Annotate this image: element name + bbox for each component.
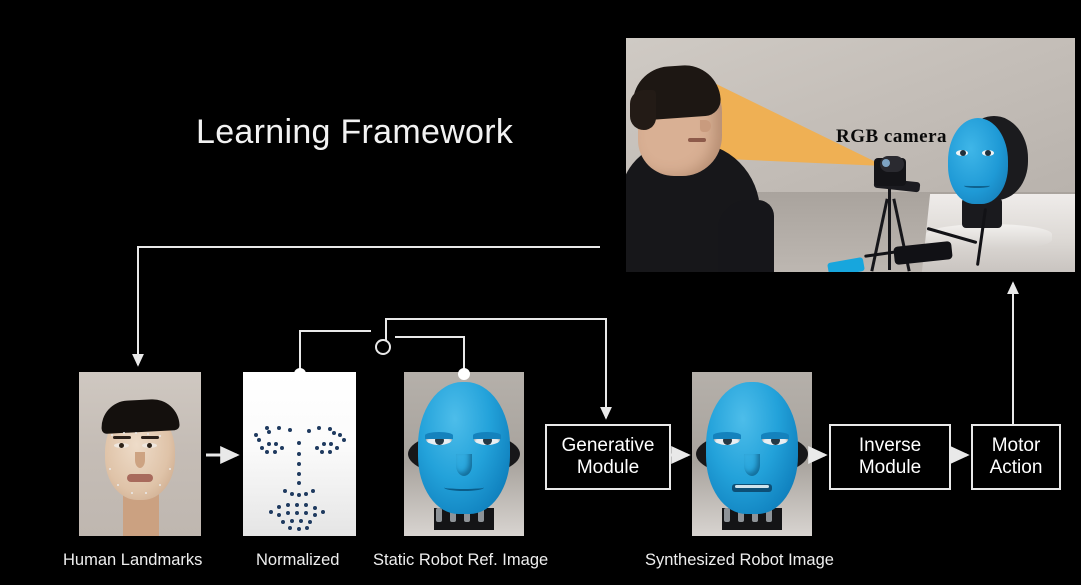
landmark-dot (297, 481, 301, 485)
robot-syn-eyelid-left (713, 432, 741, 439)
human-hair (100, 398, 180, 434)
landmark-overlay-dot (111, 434, 113, 436)
rgb-camera-label: RGB camera (836, 126, 947, 148)
landmark-dot (304, 511, 308, 515)
landmark-dot (328, 427, 332, 431)
landmark-dot (297, 462, 301, 466)
landmark-dot (277, 426, 281, 430)
robot-ref-actuator (436, 508, 442, 522)
motor-action-label-line2: Action (990, 457, 1043, 479)
landmark-dot (308, 520, 312, 524)
inverse-module-box[interactable]: Inverse Module (829, 424, 951, 490)
landmark-overlay-dot (109, 468, 111, 470)
landmark-overlay-dot (123, 432, 125, 434)
robot-syn-nose (744, 454, 760, 476)
landmark-dot (297, 493, 301, 497)
caption-synthesized-robot-image: Synthesized Robot Image (645, 551, 834, 570)
landmark-dot (277, 505, 281, 509)
generative-module-box[interactable]: Generative Module (545, 424, 671, 490)
landmark-dot (283, 489, 287, 493)
human-eyebrow-left (113, 436, 131, 439)
landmark-dot (322, 442, 326, 446)
landmark-dot (338, 433, 342, 437)
landmark-dot (273, 450, 277, 454)
motor-action-box[interactable]: Motor Action (971, 424, 1061, 490)
landmark-dot (295, 503, 299, 507)
static-robot-ref-image (404, 372, 524, 536)
generative-module-label-line2: Module (577, 457, 639, 479)
landmark-dot (329, 442, 333, 446)
robot-ref-head (418, 382, 510, 514)
landmark-dot (265, 450, 269, 454)
landmark-dot (297, 527, 301, 531)
page-title: Learning Framework (196, 113, 513, 152)
human-mouth (127, 474, 153, 482)
person-arm (718, 200, 774, 272)
landmark-overlay-dot (159, 484, 161, 486)
wire-feedback-video-to-human (138, 247, 600, 365)
landmark-dot (320, 450, 324, 454)
human-eyebrow-right (141, 436, 159, 439)
landmark-dot (315, 446, 319, 450)
landmark-dot (311, 489, 315, 493)
landmark-dot (267, 442, 271, 446)
robot-syn-teeth (735, 485, 769, 488)
landmark-dot (288, 428, 292, 432)
person-sideburn (630, 90, 656, 130)
robot-syn-eyelid-right (761, 432, 789, 439)
landmark-dot (260, 446, 264, 450)
landmark-overlay-dot (135, 432, 137, 434)
human-pupil-right (147, 443, 152, 448)
robot-syn-head (706, 382, 798, 514)
landmark-overlay-dot (145, 492, 147, 494)
normalized-landmark-plot (243, 372, 356, 536)
human-pupil-left (119, 443, 124, 448)
landmark-dot (297, 472, 301, 476)
landmark-dot (307, 429, 311, 433)
rgb-camera-setup-photo (626, 38, 1075, 272)
landmark-dot (304, 492, 308, 496)
slide-canvas: Learning Framework (0, 0, 1081, 585)
inverse-module-label-line2: Module (859, 457, 921, 479)
landmark-dot (280, 446, 284, 450)
generative-module-label-line1: Generative (562, 435, 655, 457)
landmark-dot (290, 519, 294, 523)
landmark-dot (297, 441, 301, 445)
landmark-overlay-dot (147, 433, 149, 435)
landmark-overlay-dot (169, 468, 171, 470)
robot-syn-actuator (724, 508, 730, 522)
robot-ref-eyelid-left (425, 432, 453, 439)
landmark-dot (305, 526, 309, 530)
person-nose (700, 120, 711, 132)
robot-ref-eyelid-right (473, 432, 501, 439)
landmark-overlay-dot (159, 435, 161, 437)
robot-ref-nose (456, 454, 472, 476)
caption-static-robot-ref-image: Static Robot Ref. Image (373, 551, 548, 570)
caption-human-landmarks: Human Landmarks (63, 551, 202, 570)
human-nose (135, 452, 145, 468)
landmark-dot (299, 519, 303, 523)
landmark-dot (313, 506, 317, 510)
landmark-dot (277, 513, 281, 517)
person-mouth (688, 138, 706, 142)
landmark-dot (290, 492, 294, 496)
landmark-dot (274, 442, 278, 446)
landmark-dot (265, 426, 269, 430)
landmark-dot (297, 452, 301, 456)
motor-action-label-line1: Motor (992, 435, 1041, 457)
landmark-overlay-dot (117, 484, 119, 486)
landmark-dot (335, 446, 339, 450)
landmark-dot (281, 520, 285, 524)
caption-normalized: Normalized (256, 551, 339, 570)
landmark-dot (313, 513, 317, 517)
landmark-dot (317, 426, 321, 430)
landmark-dot (269, 510, 273, 514)
landmark-dot (288, 526, 292, 530)
robot-face (948, 118, 1008, 204)
landmark-dot (342, 438, 346, 442)
landmark-dot (321, 510, 325, 514)
landmark-dot (286, 511, 290, 515)
landmark-dot (304, 503, 308, 507)
inverse-module-label-line1: Inverse (859, 435, 921, 457)
landmark-dot (328, 450, 332, 454)
landmark-dot (254, 433, 258, 437)
landmark-dot (295, 511, 299, 515)
robot-pupil-right (985, 150, 991, 156)
camera-lens-icon (882, 159, 890, 167)
landmark-dot (267, 430, 271, 434)
landmark-overlay-dot (131, 492, 133, 494)
landmark-dot (286, 503, 290, 507)
synthesized-robot-image (692, 372, 812, 536)
landmark-dot (257, 438, 261, 442)
robot-mouth (964, 182, 990, 188)
human-landmarks-image (79, 372, 201, 536)
landmark-dot (332, 431, 336, 435)
robot-pupil-left (960, 150, 966, 156)
robot-ref-mouth (444, 484, 484, 491)
